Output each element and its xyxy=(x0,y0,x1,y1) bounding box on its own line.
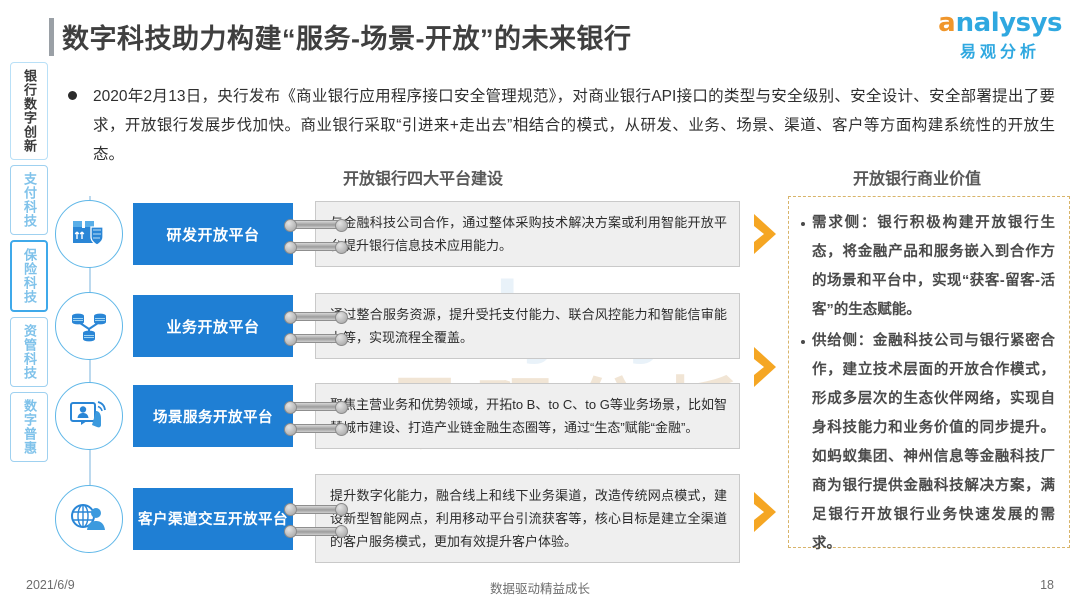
platform-name-box[interactable]: 场景服务开放平台 xyxy=(133,385,293,447)
platform-name-box[interactable]: 研发开放平台 xyxy=(133,203,293,265)
left-column-heading: 开放银行四大平台建设 xyxy=(343,165,503,189)
business-value-panel: 需求侧：银行积极构建开放银行生态，将金融产品和服务嵌入到合作方的场景和平台中，实… xyxy=(788,196,1070,548)
intro-paragraph: 2020年2月13日，央行发布《商业银行应用程序接口安全管理规范》，对商业银行A… xyxy=(93,82,1055,169)
sidebar-item-label: 保险科技 xyxy=(21,248,37,304)
intro-bullet: 2020年2月13日，央行发布《商业银行应用程序接口安全管理规范》，对商业银行A… xyxy=(68,82,1068,169)
connector-bar-bottom xyxy=(287,242,345,251)
platform-row: 客户渠道交互开放平台 提升数字化能力，融合线上和线下业务渠道，改造传统网点模式，… xyxy=(55,474,740,563)
sidebar-item-label: 银行数字创新 xyxy=(21,69,37,153)
platform-row: 场景服务开放平台 聚焦主营业务和优势领域，开拓to B、to C、to G等业务… xyxy=(55,382,740,450)
platform-description: 与金融科技公司合作，通过整体采购技术解决方案或利用智能开放平台提升银行信息技术应… xyxy=(315,201,740,267)
title-accent-bar xyxy=(49,18,54,56)
package-shield-icon xyxy=(55,200,123,268)
video-service-icon xyxy=(55,382,123,450)
footer-page-number: 18 xyxy=(1040,578,1054,592)
bullet-dot-icon xyxy=(68,91,77,100)
sidebar-item-digital-inclusive-finance[interactable]: 数字普惠 xyxy=(10,392,48,462)
platform-row: 业务开放平台 通过整合服务资源，提升受托支付能力、联合风控能力和智能信审能力等，… xyxy=(55,292,740,360)
sidebar-item-bank-digital-innovation[interactable]: 银行数字创新 xyxy=(10,62,48,160)
platform-description: 聚焦主营业务和优势领域，开拓to B、to C、to G等业务场景，比如智慧城市… xyxy=(315,383,740,449)
platform-description: 通过整合服务资源，提升受托支付能力、联合风控能力和智能信审能力等，实现流程全覆盖… xyxy=(315,293,740,359)
connector-bar-bottom xyxy=(287,527,345,536)
chevron-right-icon xyxy=(752,345,780,389)
logo-a-glyph: a xyxy=(938,10,956,36)
connector-bar-bottom xyxy=(287,334,345,343)
slide-header: 数字科技助力构建“服务-场景-开放”的未来银行 a nalysys 易观分析 xyxy=(0,0,1080,66)
right-column-heading: 开放银行商业价值 xyxy=(853,165,981,189)
globe-customer-icon xyxy=(55,485,123,553)
platform-name-label: 客户渠道交互开放平台 xyxy=(138,508,288,529)
platform-name-label: 业务开放平台 xyxy=(166,316,259,337)
value-item-text: 需求侧：银行积极构建开放银行生态，将金融产品和服务嵌入到合作方的场景和平台中，实… xyxy=(812,209,1055,325)
slide-footer: 2021/6/9 数据驱动精益成长 18 xyxy=(0,578,1080,598)
platform-name-label: 研发开放平台 xyxy=(166,224,259,245)
sidebar-item-payment-tech[interactable]: 支付科技 xyxy=(10,165,48,235)
connector-bar-bottom xyxy=(287,424,345,433)
connector-bar-top xyxy=(287,220,345,229)
connector-bar-top xyxy=(287,312,345,321)
connector-bar-top xyxy=(287,402,345,411)
category-sidebar: 银行数字创新 支付科技 保险科技 资管科技 数字普惠 xyxy=(10,62,50,467)
platform-name-box[interactable]: 客户渠道交互开放平台 xyxy=(133,488,293,550)
sidebar-item-insurance-tech[interactable]: 保险科技 xyxy=(10,240,48,312)
platform-name-box[interactable]: 业务开放平台 xyxy=(133,295,293,357)
sidebar-item-label: 支付科技 xyxy=(21,172,37,228)
platform-name-label: 场景服务开放平台 xyxy=(153,406,273,427)
database-network-icon xyxy=(55,292,123,360)
bullet-dot-icon xyxy=(801,340,805,344)
brand-logo: a nalysys 易观分析 xyxy=(938,10,1062,62)
bullet-dot-icon xyxy=(801,222,805,226)
chevron-right-icon xyxy=(752,212,780,256)
connector-bar-top xyxy=(287,505,345,514)
platform-description: 提升数字化能力，融合线上和线下业务渠道，改造传统网点模式，建设新型智能网点，利用… xyxy=(315,474,740,563)
value-list-item: 供给侧：金融科技公司与银行紧密合作，建立技术层面的开放合作模式，形成多层次的生态… xyxy=(801,327,1055,559)
platform-row: 研发开放平台 与金融科技公司合作，通过整体采购技术解决方案或利用智能开放平台提升… xyxy=(55,200,740,268)
sidebar-item-label: 数字普惠 xyxy=(21,399,37,455)
sidebar-item-label: 资管科技 xyxy=(21,324,37,380)
sidebar-item-asset-management-tech[interactable]: 资管科技 xyxy=(10,317,48,387)
logo-wordmark: nalysys xyxy=(956,10,1062,36)
page-title: 数字科技助力构建“服务-场景-开放”的未来银行 xyxy=(62,17,631,56)
footer-slogan: 数据驱动精益成长 xyxy=(0,578,1080,597)
value-list-item: 需求侧：银行积极构建开放银行生态，将金融产品和服务嵌入到合作方的场景和平台中，实… xyxy=(801,209,1055,325)
logo-chinese-name: 易观分析 xyxy=(938,38,1062,62)
value-item-text: 供给侧：金融科技公司与银行紧密合作，建立技术层面的开放合作模式，形成多层次的生态… xyxy=(812,327,1055,559)
chevron-right-icon xyxy=(752,490,780,534)
